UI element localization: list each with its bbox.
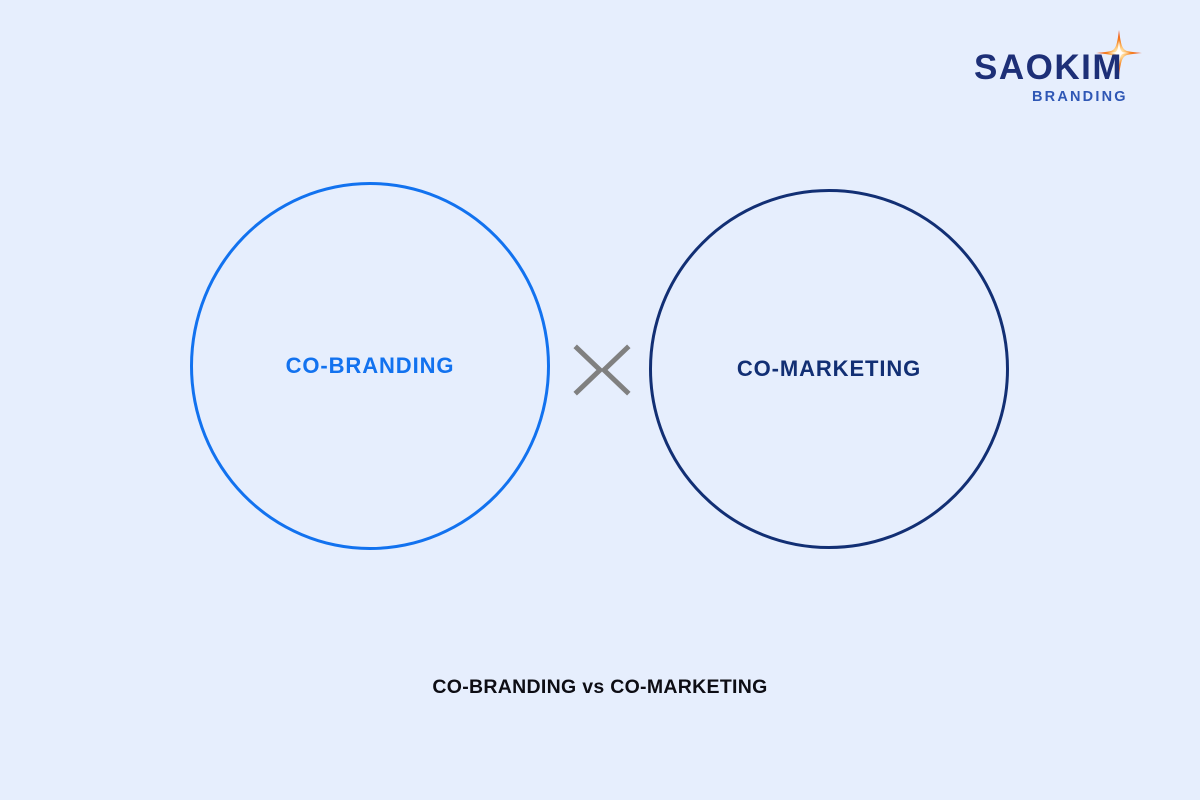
logo-wordmark: SAOKIM [974,50,1134,85]
infographic-canvas: SAOKIM BRANDING CO-BRANDING CO-MARKETING… [0,0,1200,800]
co-branding-circle: CO-BRANDING [190,182,550,550]
co-marketing-circle: CO-MARKETING [649,189,1009,549]
figure-caption: CO-BRANDING vs CO-MARKETING [0,676,1200,699]
logo-tagline: BRANDING [1032,90,1128,105]
co-marketing-label: CO-MARKETING [737,356,921,382]
saokim-logo: SAOKIM BRANDING [974,28,1144,108]
double-chevron-inward-icon [568,337,634,403]
co-branding-label: CO-BRANDING [286,353,455,379]
